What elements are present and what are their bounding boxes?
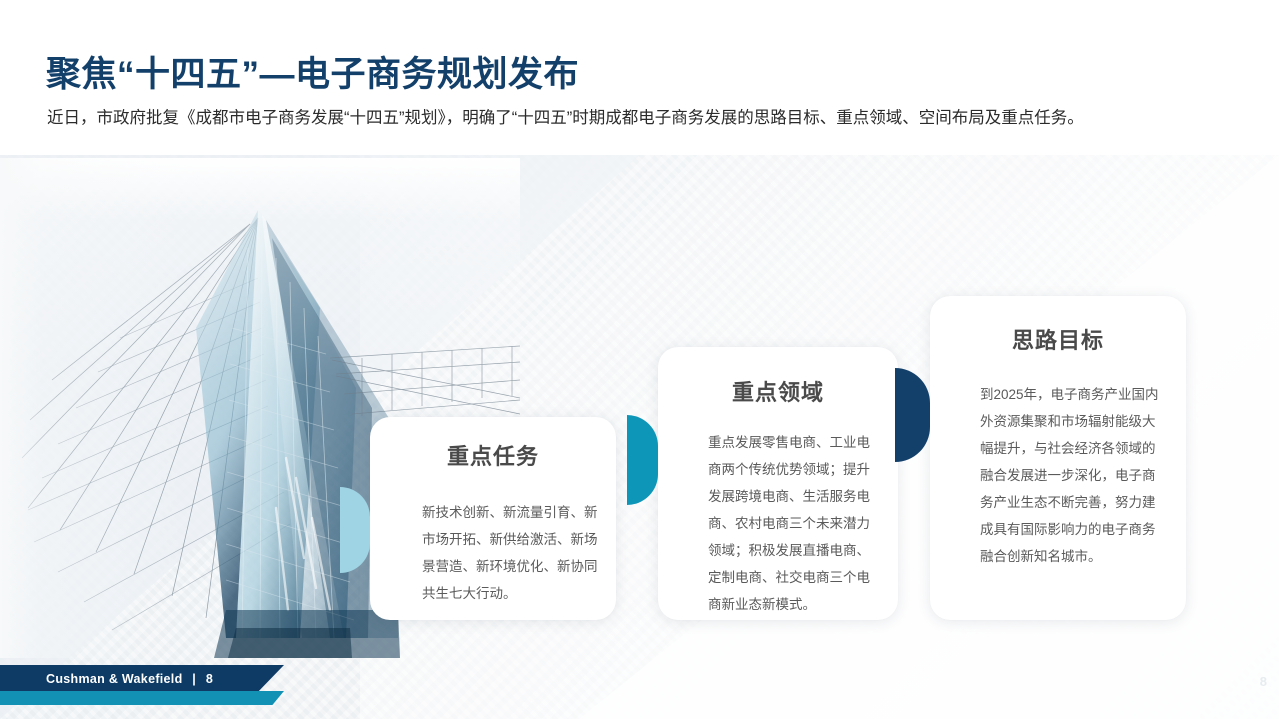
footer-page-number: 8 [206, 672, 213, 686]
footer-separator: | [186, 672, 202, 686]
card-thinking-goals[interactable]: 思路目标 到2025年，电子商务产业国内外资源集聚和市场辐射能级大幅提升，与社会… [930, 296, 1186, 620]
card-key-areas[interactable]: 重点领域 重点发展零售电商、工业电商两个传统优势领域；提升发展跨境电商、生活服务… [658, 347, 898, 620]
card-body: 新技术创新、新流量引育、新市场开拓、新供给激活、新场景营造、新环境优化、新协同共… [422, 499, 598, 607]
card-title: 重点领域 [658, 375, 898, 407]
page-number-watermark: 8 [1260, 674, 1267, 689]
page-title: 聚焦“十四五”—电子商务规划发布 [46, 46, 579, 97]
footer-bar-cyan [0, 691, 284, 705]
page-subtitle: 近日，市政府批复《成都市电子商务发展“十四五”规划》，明确了“十四五”时期成都电… [47, 105, 1242, 131]
card-title: 重点任务 [370, 439, 616, 471]
card-key-tasks[interactable]: 重点任务 新技术创新、新流量引育、新市场开拓、新供给激活、新场景营造、新环境优化… [370, 417, 616, 620]
footer-brand: Cushman & Wakefield [46, 672, 183, 686]
slide-canvas: 聚焦“十四五”—电子商务规划发布 近日，市政府批复《成都市电子商务发展“十四五”… [0, 0, 1279, 719]
card-body: 到2025年，电子商务产业国内外资源集聚和市场辐射能级大幅提升，与社会经济各领域… [980, 381, 1168, 570]
card-body: 重点发展零售电商、工业电商两个传统优势领域；提升发展跨境电商、生活服务电商、农村… [708, 429, 880, 618]
card-title: 思路目标 [930, 323, 1186, 355]
footer-brand-and-page: Cushman & Wakefield | 8 [46, 672, 213, 686]
